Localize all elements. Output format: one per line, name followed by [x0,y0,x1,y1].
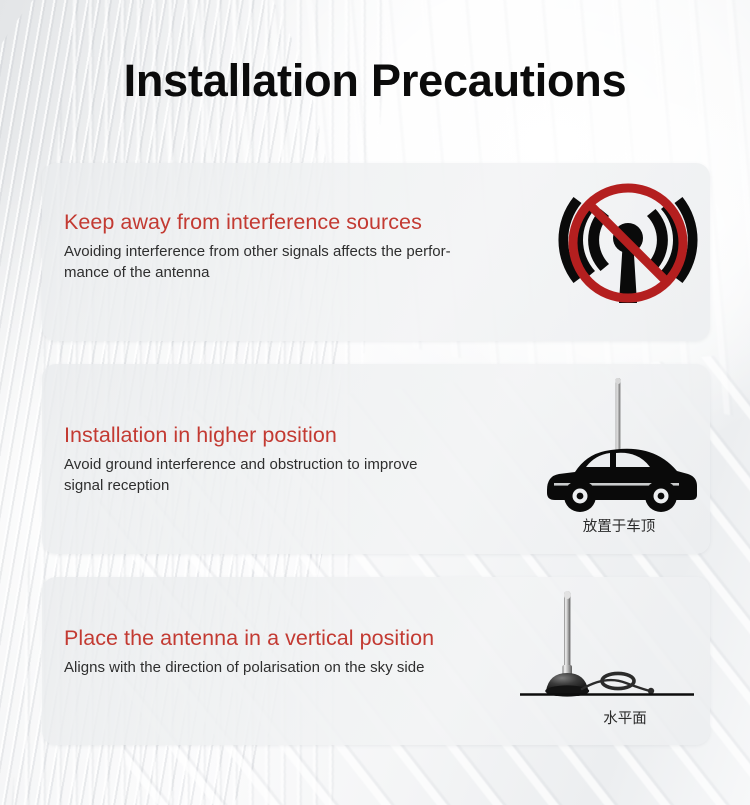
precaution-card-higher-position: Installation in higher position Avoid gr… [42,364,710,554]
card-text-block: Installation in higher position Avoid gr… [64,421,584,496]
card-heading: Installation in higher position [64,421,584,449]
card-body-line-2: signal reception [64,475,584,496]
page-background: Installation Precautions Keep away from … [0,0,750,805]
card-heading: Keep away from interference sources [64,208,584,236]
card-body-line-1: Aligns with the direction of polarisatio… [64,659,425,676]
card-body: Avoid ground interference and obstructio… [64,454,584,496]
car-with-roof-antenna-icon: 放置于车顶 [534,370,704,548]
card-text-block: Keep away from interference sources Avoi… [64,208,584,283]
card-body-line-1: Avoid ground interference and obstructio… [64,456,417,473]
card-body: Aligns with the direction of polarisatio… [64,657,584,678]
plane-icon-caption: 水平面 [550,710,700,728]
precaution-card-interference: Keep away from interference sources Avoi… [42,163,710,341]
card-body-line-2: mance of the antenna [64,262,584,283]
card-body: Avoiding interference from other signals… [64,241,584,283]
vertical-antenna-on-plane-icon: 水平面 [512,579,700,743]
card-body-line-1: Avoiding interference from other signals… [64,243,451,260]
car-icon-caption: 放置于车顶 [534,518,704,536]
card-text-block: Place the antenna in a vertical position… [64,624,584,678]
page-title: Installation Precautions [0,52,750,110]
no-signal-tower-icon [554,181,702,329]
precaution-card-vertical-position: Place the antenna in a vertical position… [42,577,710,745]
card-heading: Place the antenna in a vertical position [64,624,584,652]
